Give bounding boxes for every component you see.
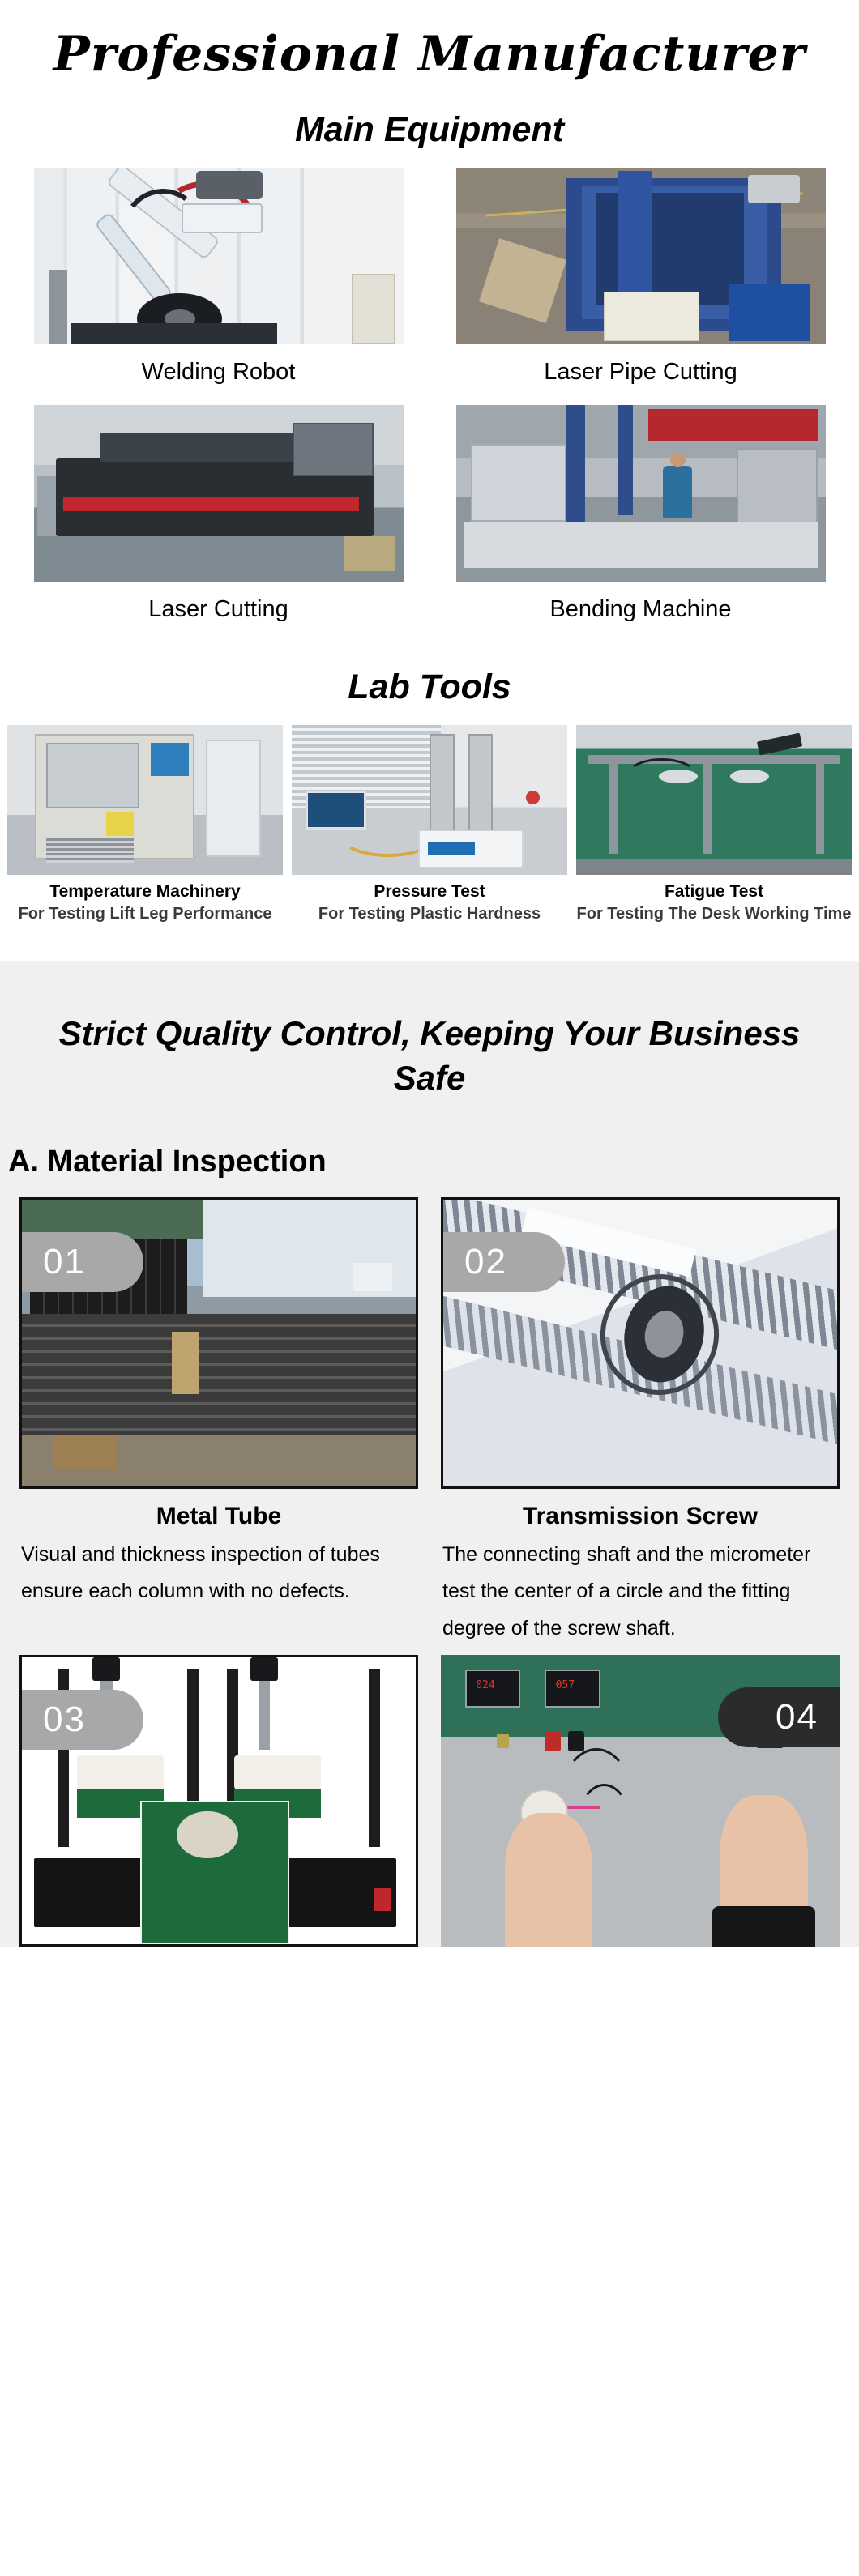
lab-tools-grid: Temperature Machinery For Testing Lift L… xyxy=(0,725,859,928)
lab-tool-subtitle: For Testing Plastic Hardness xyxy=(292,905,567,928)
circuit-test-rig-photo: 03 xyxy=(19,1655,418,1947)
quality-card: 03 xyxy=(19,1655,418,1947)
quality-cards-grid: 01 Metal Tube Visual and thickness inspe… xyxy=(0,1197,859,1947)
equipment-item: Laser Cutting xyxy=(34,405,404,642)
lab-tool-title: Temperature Machinery xyxy=(7,875,283,905)
equipment-section: Professional Manufacturer Main Equipment… xyxy=(0,0,859,932)
quality-control-section: Strict Quality Control, Keeping Your Bus… xyxy=(0,961,859,1947)
transmission-screw-photo: 02 xyxy=(441,1197,840,1489)
lab-tool-title: Fatigue Test xyxy=(576,875,852,905)
quality-card: 04 xyxy=(441,1655,840,1947)
product-detail-page: Professional Manufacturer Main Equipment… xyxy=(0,0,859,1947)
equipment-caption: Laser Cutting xyxy=(34,582,404,642)
quality-card-description: Visual and thickness inspection of tubes… xyxy=(19,1537,418,1619)
quality-card-description: The connecting shaft and the micrometer … xyxy=(441,1537,840,1656)
quality-card-caption: Transmission Screw xyxy=(441,1489,840,1537)
equipment-grid: Welding Robot Laser Pipe Cutting xyxy=(0,168,859,643)
equipment-caption: Laser Pipe Cutting xyxy=(456,344,826,405)
lab-tool-item: Temperature Machinery For Testing Lift L… xyxy=(7,725,283,928)
card-number-badge: 02 xyxy=(443,1232,565,1292)
lab-tools-heading: Lab Tools xyxy=(0,643,859,725)
laser-pipe-cutting-photo xyxy=(456,168,826,344)
equipment-item: Bending Machine xyxy=(456,405,826,642)
fatigue-test-photo xyxy=(576,725,852,875)
material-inspection-heading: A. Material Inspection xyxy=(0,1109,859,1197)
equipment-caption: Welding Robot xyxy=(34,344,404,405)
pressure-test-photo xyxy=(292,725,567,875)
lab-tool-subtitle: For Testing The Desk Working Time xyxy=(576,905,852,928)
card-number-badge: 03 xyxy=(22,1690,143,1750)
brand-title: Professional Manufacturer xyxy=(0,0,859,86)
metal-tube-photo: 01 xyxy=(19,1197,418,1489)
equipment-item: Welding Robot xyxy=(34,168,404,405)
main-equipment-heading: Main Equipment xyxy=(0,86,859,168)
quality-card: 02 Transmission Screw The connecting sha… xyxy=(441,1197,840,1656)
card-number-badge: 04 xyxy=(718,1687,840,1747)
card-number-badge: 01 xyxy=(22,1232,143,1292)
bending-machine-photo xyxy=(456,405,826,582)
lab-tool-title: Pressure Test xyxy=(292,875,567,905)
electrical-test-photo: 04 xyxy=(441,1655,840,1947)
equipment-item: Laser Pipe Cutting xyxy=(456,168,826,405)
lab-tool-item: Pressure Test For Testing Plastic Hardne… xyxy=(292,725,567,928)
laser-cutting-photo xyxy=(34,405,404,582)
quality-card-caption: Metal Tube xyxy=(19,1489,418,1537)
quality-card: 01 Metal Tube Visual and thickness inspe… xyxy=(19,1197,418,1656)
welding-robot-photo xyxy=(34,168,404,344)
quality-control-title: Strict Quality Control, Keeping Your Bus… xyxy=(0,988,859,1109)
lab-tool-subtitle: For Testing Lift Leg Performance xyxy=(7,905,283,928)
temperature-chamber-photo xyxy=(7,725,283,875)
lab-tool-item: Fatigue Test For Testing The Desk Workin… xyxy=(576,725,852,928)
equipment-caption: Bending Machine xyxy=(456,582,826,642)
